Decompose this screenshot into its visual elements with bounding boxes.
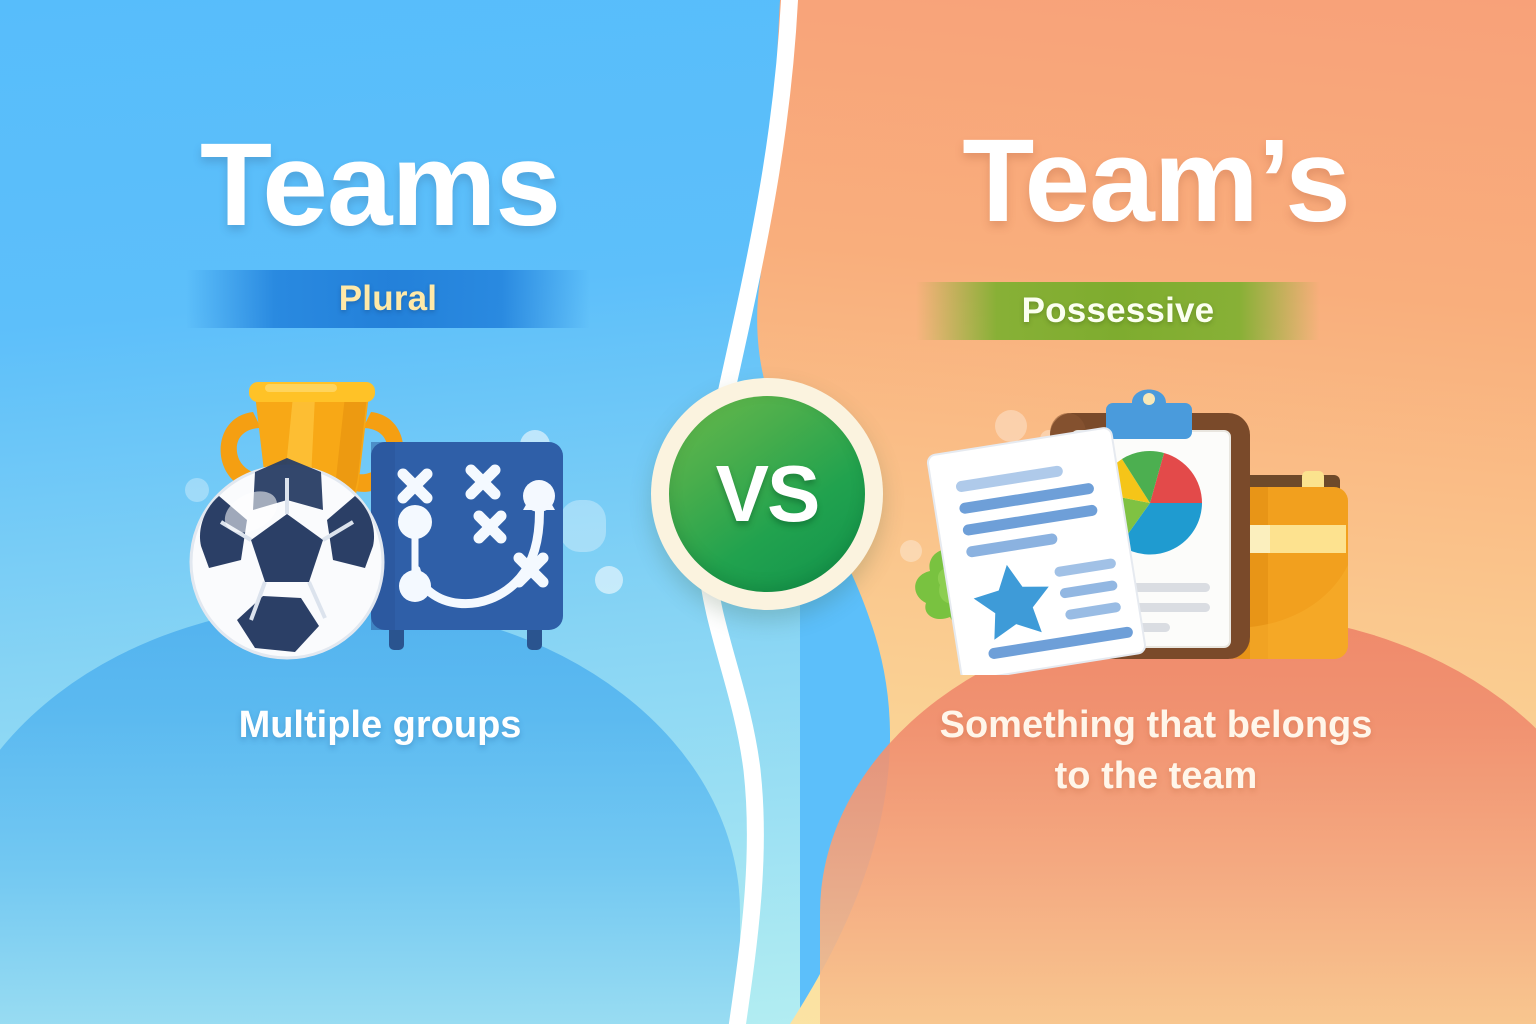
infographic-canvas: Teams Plural — [0, 0, 1536, 1024]
tactics-board-icon — [371, 442, 563, 650]
left-caption: Multiple groups — [0, 700, 760, 751]
vs-label: VS — [716, 448, 819, 540]
left-column: Teams Plural — [0, 0, 760, 1024]
left-title: Teams — [0, 126, 760, 244]
right-caption-line-2: to the team — [776, 751, 1536, 802]
team-documents-illustration — [900, 375, 1360, 675]
report-document — [927, 427, 1146, 675]
clipboard-clip — [1106, 403, 1192, 439]
right-band-label: Possessive — [1022, 291, 1215, 331]
right-title: Team’s — [776, 122, 1536, 240]
vs-badge-inner: VS — [669, 396, 865, 592]
sports-team-illustration — [175, 370, 595, 670]
right-caption-line-1: Something that belongs — [776, 700, 1536, 751]
left-type-band: Plural — [186, 270, 590, 328]
right-caption: Something that belongs to the team — [776, 700, 1536, 803]
left-band-label: Plural — [339, 279, 437, 319]
vs-badge: VS — [651, 378, 883, 610]
right-type-band: Possessive — [916, 282, 1320, 340]
